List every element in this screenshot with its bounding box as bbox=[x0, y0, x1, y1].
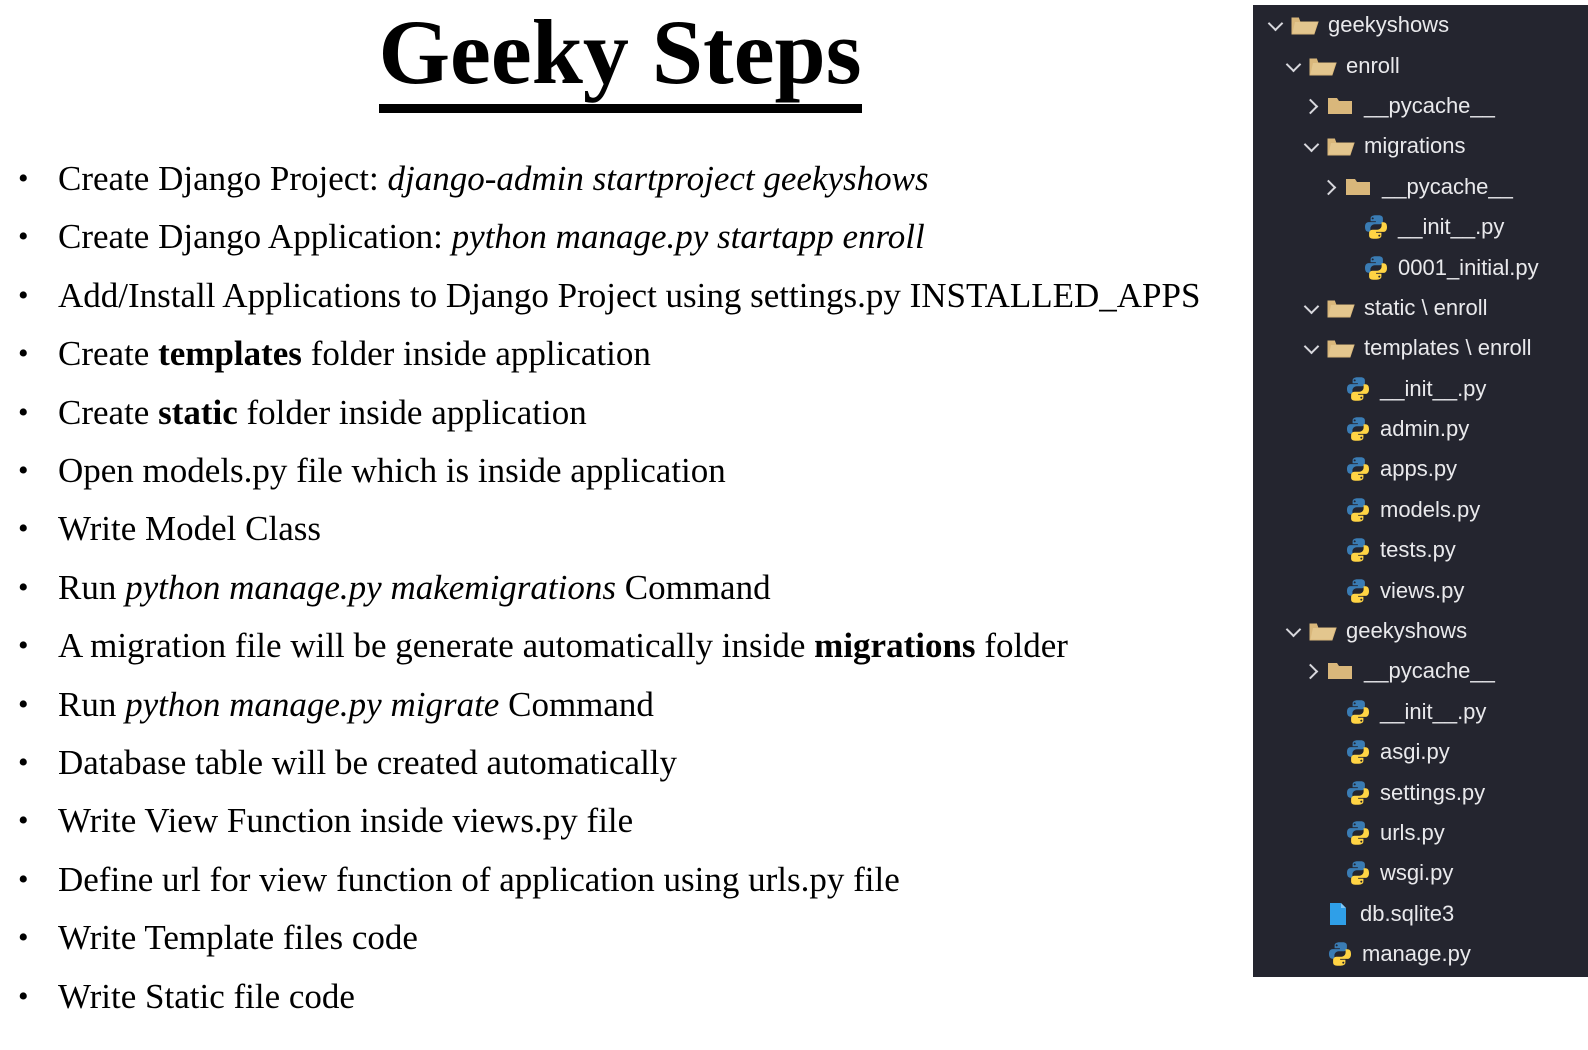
chevron-right-icon[interactable] bbox=[1301, 95, 1323, 117]
tree-item-label: __pycache__ bbox=[1364, 658, 1495, 684]
tree-row[interactable]: admin.py bbox=[1253, 409, 1588, 449]
chevron-placeholder-icon bbox=[1319, 862, 1341, 884]
tree-row[interactable]: __init__.py bbox=[1253, 207, 1588, 247]
tree-item-label: wsgi.py bbox=[1380, 860, 1453, 886]
tree-row[interactable]: static \ enroll bbox=[1253, 288, 1588, 328]
step-text-fragment: django-admin startproject geekyshows bbox=[387, 159, 928, 198]
step-text-fragment: Create bbox=[58, 393, 158, 432]
chevron-placeholder-icon bbox=[1337, 216, 1359, 238]
python-file-icon bbox=[1345, 860, 1371, 886]
step-item: Write Static file code bbox=[10, 968, 1235, 1026]
chevron-placeholder-icon bbox=[1319, 499, 1341, 521]
tree-row[interactable]: __pycache__ bbox=[1253, 651, 1588, 691]
folder-open-icon bbox=[1291, 13, 1319, 37]
step-item: Create static folder inside application bbox=[10, 384, 1235, 442]
tree-item-label: __pycache__ bbox=[1364, 93, 1495, 119]
folder-open-icon bbox=[1327, 134, 1355, 158]
tree-row[interactable]: asgi.py bbox=[1253, 732, 1588, 772]
tree-row[interactable]: apps.py bbox=[1253, 449, 1588, 489]
step-text-fragment: static bbox=[158, 393, 238, 432]
tree-row[interactable]: tests.py bbox=[1253, 530, 1588, 570]
chevron-placeholder-icon bbox=[1319, 539, 1341, 561]
step-item: Write View Function inside views.py file bbox=[10, 792, 1235, 850]
step-text-fragment: Command bbox=[616, 568, 771, 607]
step-text-fragment: Create bbox=[58, 334, 158, 373]
tree-item-label: templates \ enroll bbox=[1364, 335, 1532, 361]
python-file-icon bbox=[1345, 537, 1371, 563]
tree-row[interactable]: views.py bbox=[1253, 570, 1588, 610]
step-item: A migration file will be generate automa… bbox=[10, 617, 1235, 675]
python-file-icon bbox=[1345, 497, 1371, 523]
tree-item-label: geekyshows bbox=[1328, 12, 1449, 38]
step-item: Write Template files code bbox=[10, 909, 1235, 967]
python-file-icon bbox=[1327, 941, 1353, 967]
tree-row[interactable]: settings.py bbox=[1253, 772, 1588, 812]
chevron-down-icon[interactable] bbox=[1283, 55, 1305, 77]
step-text-fragment: folder bbox=[976, 626, 1068, 665]
chevron-right-icon[interactable] bbox=[1301, 660, 1323, 682]
folder-open-icon bbox=[1309, 619, 1337, 643]
tree-row[interactable]: db.sqlite3 bbox=[1253, 894, 1588, 934]
chevron-down-icon[interactable] bbox=[1301, 297, 1323, 319]
file-explorer-panel[interactable]: geekyshowsenroll__pycache__migrations__p… bbox=[1253, 5, 1588, 977]
tree-row[interactable]: geekyshows bbox=[1253, 611, 1588, 651]
python-file-icon bbox=[1345, 416, 1371, 442]
step-text-fragment: A migration file will be generate automa… bbox=[58, 626, 814, 665]
tree-item-label: urls.py bbox=[1380, 820, 1445, 846]
step-text-fragment: Command bbox=[499, 685, 654, 724]
chevron-placeholder-icon bbox=[1301, 903, 1323, 925]
tree-item-label: static \ enroll bbox=[1364, 295, 1488, 321]
chevron-placeholder-icon bbox=[1319, 378, 1341, 400]
python-file-icon bbox=[1345, 820, 1371, 846]
step-text-fragment: Write View Function inside views.py file bbox=[58, 801, 633, 840]
chevron-placeholder-icon bbox=[1319, 741, 1341, 763]
tree-item-label: __init__.py bbox=[1398, 214, 1504, 240]
step-text-fragment: Open models.py file which is inside appl… bbox=[58, 451, 726, 490]
tree-item-label: __init__.py bbox=[1380, 699, 1486, 725]
tree-item-label: 0001_initial.py bbox=[1398, 255, 1539, 281]
folder-open-icon bbox=[1327, 336, 1355, 360]
tree-item-label: __pycache__ bbox=[1382, 174, 1513, 200]
step-text-fragment: python manage.py makemigrations bbox=[125, 568, 616, 607]
step-item: Write Model Class bbox=[10, 500, 1235, 558]
step-text-fragment: folder inside application bbox=[302, 334, 651, 373]
chevron-down-icon[interactable] bbox=[1265, 14, 1287, 36]
chevron-right-icon[interactable] bbox=[1319, 176, 1341, 198]
tree-item-label: migrations bbox=[1364, 133, 1465, 159]
tree-item-label: settings.py bbox=[1380, 780, 1485, 806]
step-text-fragment: templates bbox=[158, 334, 302, 373]
python-file-icon bbox=[1345, 578, 1371, 604]
tree-row[interactable]: wsgi.py bbox=[1253, 853, 1588, 893]
tree-item-label: models.py bbox=[1380, 497, 1480, 523]
tree-item-label: enroll bbox=[1346, 53, 1400, 79]
step-item: Database table will be created automatic… bbox=[10, 734, 1235, 792]
step-text-fragment: Write Template files code bbox=[58, 918, 418, 957]
chevron-placeholder-icon bbox=[1301, 943, 1323, 965]
page-title: Geeky Steps bbox=[0, 4, 1240, 113]
step-text-fragment: Run bbox=[58, 568, 125, 607]
step-item: Run python manage.py makemigrations Comm… bbox=[10, 559, 1235, 617]
tree-item-label: db.sqlite3 bbox=[1360, 901, 1454, 927]
chevron-placeholder-icon bbox=[1319, 458, 1341, 480]
step-text-fragment: Create Django Project: bbox=[58, 159, 387, 198]
step-text-fragment: Create Django Application: bbox=[58, 217, 452, 256]
python-file-icon bbox=[1345, 456, 1371, 482]
chevron-placeholder-icon bbox=[1319, 701, 1341, 723]
chevron-placeholder-icon bbox=[1319, 580, 1341, 602]
step-item: Create templates folder inside applicati… bbox=[10, 325, 1235, 383]
step-text-fragment: migrations bbox=[814, 626, 975, 665]
tree-item-label: views.py bbox=[1380, 578, 1464, 604]
database-file-icon bbox=[1327, 901, 1349, 927]
tree-row[interactable]: __pycache__ bbox=[1253, 167, 1588, 207]
tree-item-label: manage.py bbox=[1362, 941, 1471, 967]
step-item: Create Django Project: django-admin star… bbox=[10, 150, 1235, 208]
step-text-fragment: python manage.py startapp enroll bbox=[452, 217, 925, 256]
tree-row[interactable]: __pycache__ bbox=[1253, 86, 1588, 126]
step-text-fragment: folder inside application bbox=[238, 393, 587, 432]
steps-list: Create Django Project: django-admin star… bbox=[10, 150, 1235, 1026]
step-item: Open models.py file which is inside appl… bbox=[10, 442, 1235, 500]
python-file-icon bbox=[1345, 780, 1371, 806]
tree-item-label: __init__.py bbox=[1380, 376, 1486, 402]
tree-row[interactable]: urls.py bbox=[1253, 813, 1588, 853]
tree-item-label: tests.py bbox=[1380, 537, 1456, 563]
tree-item-label: asgi.py bbox=[1380, 739, 1450, 765]
step-text-fragment: Add/Install Applications to Django Proje… bbox=[58, 276, 1200, 315]
chevron-placeholder-icon bbox=[1319, 418, 1341, 440]
chevron-placeholder-icon bbox=[1319, 782, 1341, 804]
step-text-fragment: Write Model Class bbox=[58, 509, 321, 548]
chevron-placeholder-icon bbox=[1337, 257, 1359, 279]
tree-row[interactable]: geekyshows bbox=[1253, 5, 1588, 45]
step-item: Create Django Application: python manage… bbox=[10, 208, 1235, 266]
folder-closed-icon bbox=[1327, 94, 1355, 118]
tree-item-label: admin.py bbox=[1380, 416, 1469, 442]
step-item: Define url for view function of applicat… bbox=[10, 851, 1235, 909]
python-file-icon bbox=[1345, 739, 1371, 765]
tree-row[interactable]: enroll bbox=[1253, 45, 1588, 85]
folder-open-icon bbox=[1309, 54, 1337, 78]
chevron-down-icon[interactable] bbox=[1283, 620, 1305, 642]
step-text-fragment: Define url for view function of applicat… bbox=[58, 860, 900, 899]
step-text-fragment: Database table will be created automatic… bbox=[58, 743, 677, 782]
tree-row[interactable]: models.py bbox=[1253, 490, 1588, 530]
step-text-fragment: Run bbox=[58, 685, 125, 724]
tree-row[interactable]: 0001_initial.py bbox=[1253, 247, 1588, 287]
step-item: Run python manage.py migrate Command bbox=[10, 676, 1235, 734]
folder-closed-icon bbox=[1327, 659, 1355, 683]
tree-item-label: geekyshows bbox=[1346, 618, 1467, 644]
tree-row[interactable]: migrations bbox=[1253, 126, 1588, 166]
tree-row[interactable]: __init__.py bbox=[1253, 369, 1588, 409]
step-text-fragment: python manage.py migrate bbox=[125, 685, 499, 724]
folder-closed-icon bbox=[1345, 175, 1373, 199]
python-file-icon bbox=[1345, 699, 1371, 725]
python-file-icon bbox=[1363, 255, 1389, 281]
tree-row[interactable]: templates \ enroll bbox=[1253, 328, 1588, 368]
tree-row[interactable]: manage.py bbox=[1253, 934, 1588, 974]
step-item: Add/Install Applications to Django Proje… bbox=[10, 267, 1235, 325]
step-text-fragment: Write Static file code bbox=[58, 977, 355, 1016]
tree-row[interactable]: __init__.py bbox=[1253, 692, 1588, 732]
python-file-icon bbox=[1345, 376, 1371, 402]
chevron-placeholder-icon bbox=[1319, 822, 1341, 844]
chevron-down-icon[interactable] bbox=[1301, 135, 1323, 157]
chevron-down-icon[interactable] bbox=[1301, 337, 1323, 359]
folder-open-icon bbox=[1327, 296, 1355, 320]
tree-item-label: apps.py bbox=[1380, 456, 1457, 482]
python-file-icon bbox=[1363, 214, 1389, 240]
page-title-text: Geeky Steps bbox=[379, 4, 862, 113]
